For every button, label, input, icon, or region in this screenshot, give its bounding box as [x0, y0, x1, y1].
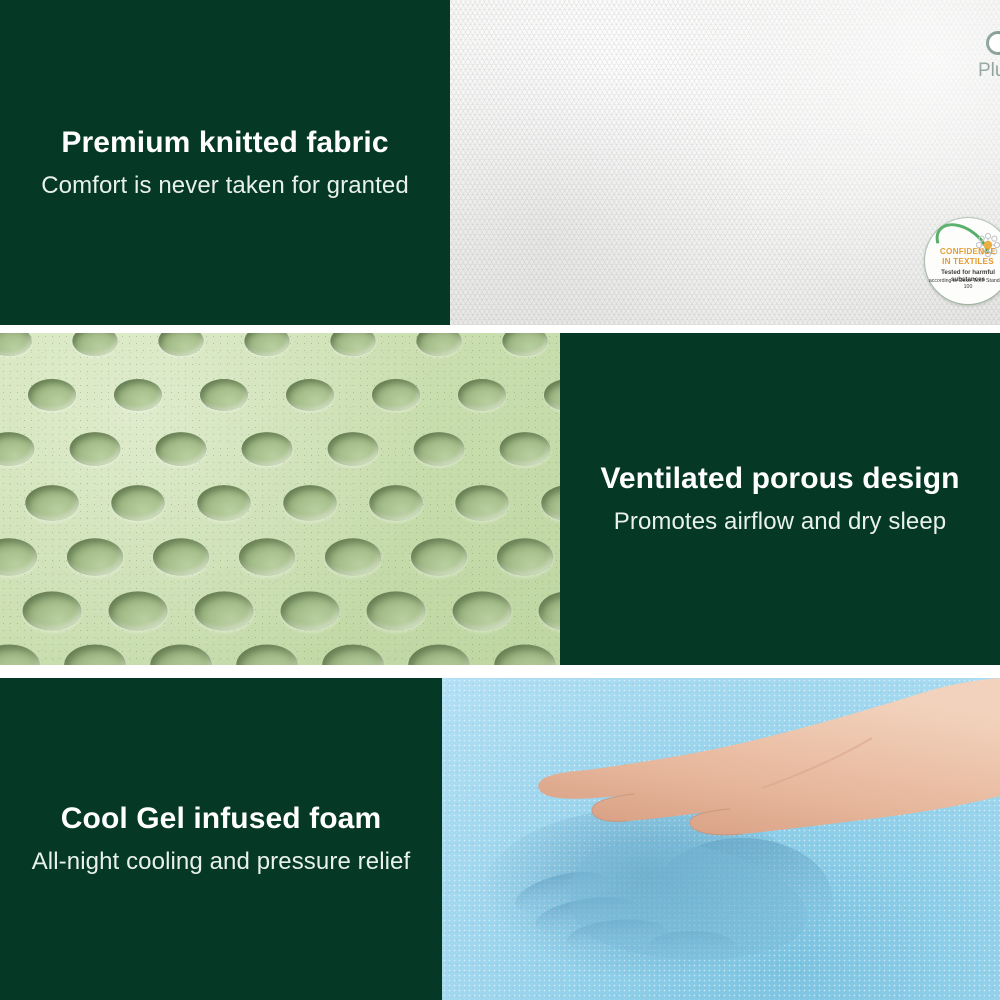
- foam-hole: [153, 538, 209, 575]
- scale-min-label: Plush: [978, 60, 1000, 82]
- foam-hole: [367, 591, 426, 630]
- image-knitted-fabric: Plush Firm 6.5 / Medium-firm CONFIDENCE …: [450, 0, 1000, 325]
- foam-hole: [200, 379, 248, 411]
- foam-hole: [328, 432, 379, 466]
- firmness-scale: Plush Firm 6.5 / Medium-firm: [970, 12, 1000, 122]
- foam-hole: [156, 432, 207, 466]
- foam-hole: [111, 485, 164, 521]
- foam-hole: [281, 591, 340, 630]
- image-gel-foam-hand: [442, 678, 1000, 1000]
- scale-dot-1[interactable]: [986, 31, 1000, 55]
- foam-hole: [197, 485, 250, 521]
- foam-hole: [23, 591, 82, 630]
- foam-hole: [458, 379, 506, 411]
- foam-hole: [497, 538, 553, 575]
- foam-hole: [283, 485, 336, 521]
- foam-hole: [455, 485, 508, 521]
- foam-hole: [67, 538, 123, 575]
- panel-headline: Premium knitted fabric: [61, 126, 388, 159]
- panel-subline: All-night cooling and pressure relief: [32, 849, 411, 875]
- foam-hole: [242, 432, 293, 466]
- oeko-line-1: CONFIDENCE: [925, 247, 1000, 256]
- oeko-line-2: IN TEXTILES: [925, 257, 1000, 266]
- foam-hole: [25, 485, 78, 521]
- panel-headline: Ventilated porous design: [600, 462, 959, 495]
- foam-hole: [325, 538, 381, 575]
- panel-subline: Comfort is never taken for granted: [41, 173, 409, 199]
- product-feature-infographic: Premium knitted fabric Comfort is never …: [0, 0, 1000, 1000]
- foam-hole: [500, 432, 551, 466]
- panel-ventilated-porous-design: Ventilated porous design Promotes airflo…: [560, 333, 1000, 665]
- foam-hole: [372, 379, 420, 411]
- foam-hole: [70, 432, 121, 466]
- foam-hole: [411, 538, 467, 575]
- foam-hole: [109, 591, 168, 630]
- foam-hole: [195, 591, 254, 630]
- panel-subline: Promotes airflow and dry sleep: [614, 509, 946, 535]
- handprint-shading: [442, 678, 1000, 1000]
- foam-hole: [239, 538, 295, 575]
- panel-cool-gel-infused-foam: Cool Gel infused foam All-night cooling …: [0, 678, 442, 1000]
- foam-hole: [453, 591, 512, 630]
- foam-hole: [114, 379, 162, 411]
- badge-oeko-tex: CONFIDENCE IN TEXTILES Tested for harmfu…: [924, 217, 1000, 305]
- foam-hole: [369, 485, 422, 521]
- foam-hole: [28, 379, 76, 411]
- image-ventilated-foam: The PU-Foam SHE-Standard by Europur AISB…: [0, 333, 560, 665]
- panel-premium-knitted-fabric: Premium knitted fabric Comfort is never …: [0, 0, 450, 325]
- panel-headline: Cool Gel infused foam: [61, 802, 381, 835]
- foam-hole: [286, 379, 334, 411]
- oeko-line-4: according to Oeko-Tex® Standard 100: [925, 278, 1000, 290]
- foam-hole: [414, 432, 465, 466]
